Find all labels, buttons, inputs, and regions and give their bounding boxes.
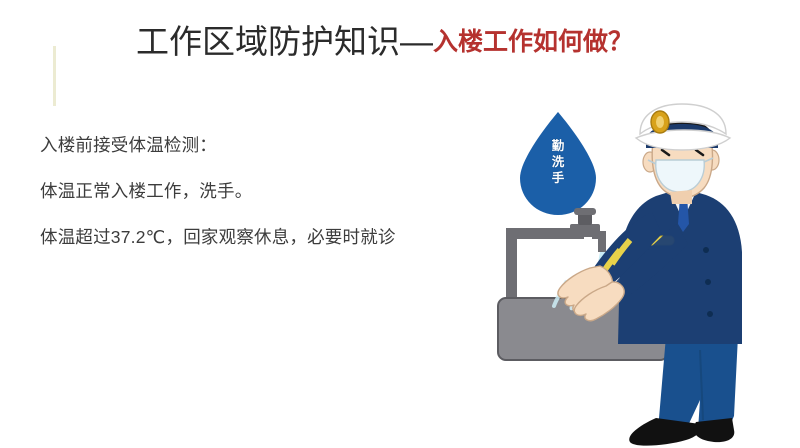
page-title: 工作区域防护知识—入楼工作如何做？ <box>136 25 633 58</box>
body-line-1: 入楼前接受体温检测： <box>40 122 470 168</box>
illustration-guard-washing-hands: 勤 洗 手 <box>470 100 800 448</box>
slide-canvas: 工作区域防护知识—入楼工作如何做？ 入楼前接受体温检测： 体温正常入楼工作，洗手… <box>0 0 800 448</box>
guard-cap-icon <box>636 104 730 150</box>
body-text-block: 入楼前接受体温检测： 体温正常入楼工作，洗手。 体温超过37.2℃，回家观察休息… <box>40 122 470 260</box>
drop-label-char-1: 勤 <box>547 138 569 154</box>
page-title-main: 工作区域防护知识— <box>136 23 433 60</box>
body-line-3: 体温超过37.2℃，回家观察休息，必要时就诊 <box>40 214 470 260</box>
drop-label-char-2: 洗 <box>547 154 569 170</box>
water-drop-label: 勤 洗 手 <box>547 138 569 186</box>
left-accent-bar <box>53 46 56 106</box>
body-line-2: 体温正常入楼工作，洗手。 <box>40 168 470 214</box>
drop-label-char-3: 手 <box>547 170 569 186</box>
page-title-accent: 入楼工作如何做？ <box>433 28 633 56</box>
